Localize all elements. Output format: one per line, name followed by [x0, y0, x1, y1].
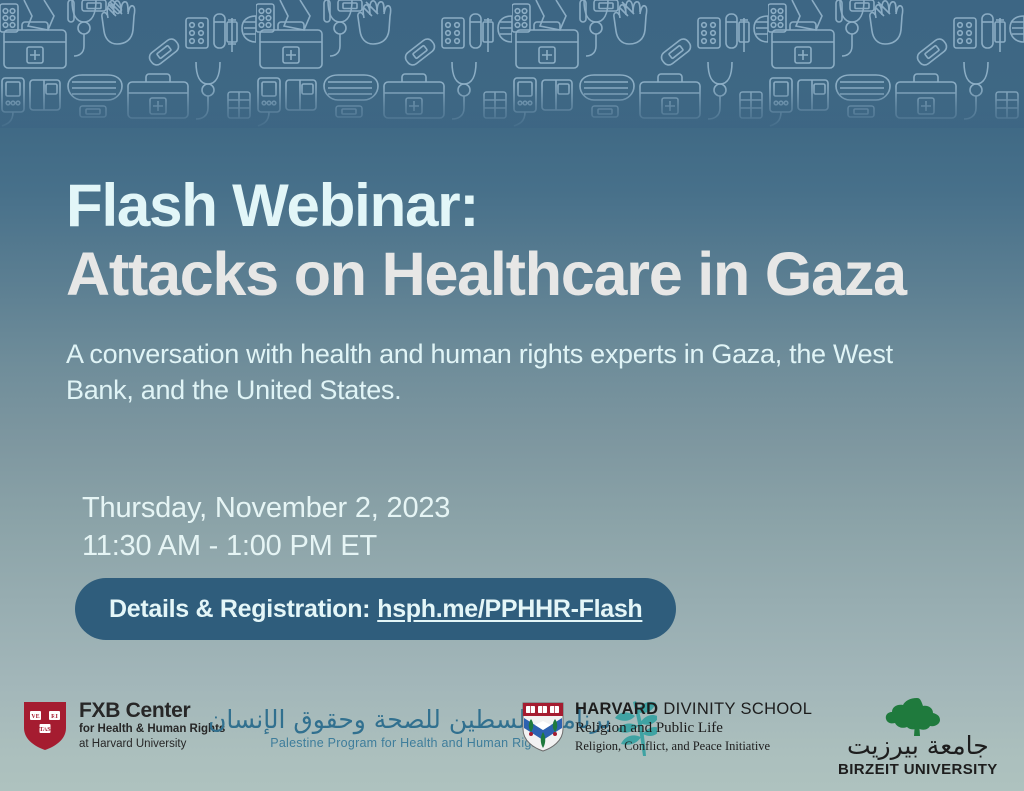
logo-hds-divinity-words: DIVINITY SCHOOL	[658, 700, 812, 718]
pattern-tile	[768, 0, 1024, 128]
partner-logo-row: VE RI TAS FXB Center for Health & Human …	[0, 684, 1024, 784]
title-line-2: Attacks on Healthcare in Gaza	[66, 240, 986, 308]
logo-fxb-center: VE RI TAS FXB Center for Health & Human …	[22, 699, 225, 752]
logo-birzeit-roman: BIRZEIT UNIVERSITY	[838, 760, 998, 779]
registration-label: Details & Registration:	[109, 595, 370, 624]
title-line-1: Flash Webinar:	[66, 172, 986, 240]
logo-hds-harvard-word: HARVARD	[575, 700, 658, 718]
subtitle: A conversation with health and human rig…	[66, 336, 926, 408]
logo-harvard-divinity-school: HARVARD DIVINITY SCHOOL Religion and Pub…	[521, 699, 812, 755]
page-title: Flash Webinar: Attacks on Healthcare in …	[66, 172, 986, 308]
registration-link[interactable]: hsph.me/PPHHR-Flash	[377, 595, 642, 624]
logo-fxb-text: FXB Center for Health & Human Rights at …	[79, 699, 225, 752]
registration-button[interactable]: Details & Registration: hsph.me/PPHHR-Fl…	[75, 578, 676, 640]
harvard-divinity-shield-icon	[521, 701, 565, 753]
logo-fxb-line-1: FXB Center	[79, 699, 225, 722]
logo-fxb-line-3: at Harvard University	[79, 737, 225, 752]
pattern-tile	[0, 0, 256, 128]
harvard-veritas-shield-icon: VE RI TAS	[22, 700, 68, 752]
logo-fxb-line-2: for Health & Human Rights	[79, 722, 225, 737]
logo-hds-text: HARVARD DIVINITY SCHOOL Religion and Pub…	[575, 699, 812, 755]
event-time: 11:30 AM - 1:00 PM ET	[82, 527, 450, 565]
event-date: Thursday, November 2, 2023	[82, 489, 450, 527]
pattern-tile	[256, 0, 512, 128]
medical-supplies-pattern	[0, 0, 1024, 128]
logo-birzeit-university: جامعة بيرزيت BIRZEIT UNIVERSITY	[838, 692, 998, 779]
event-datetime: Thursday, November 2, 2023 11:30 AM - 1:…	[82, 489, 450, 565]
logo-hds-line-2: Religion and Public Life	[575, 719, 812, 738]
logo-hds-line-3: Religion, Conflict, and Peace Initiative	[575, 738, 812, 755]
logo-hds-line-1: HARVARD DIVINITY SCHOOL	[575, 699, 812, 719]
pattern-tile	[512, 0, 768, 128]
webinar-poster: Flash Webinar: Attacks on Healthcare in …	[0, 0, 1024, 791]
logo-birzeit-arabic: جامعة بيرزيت	[847, 732, 989, 760]
